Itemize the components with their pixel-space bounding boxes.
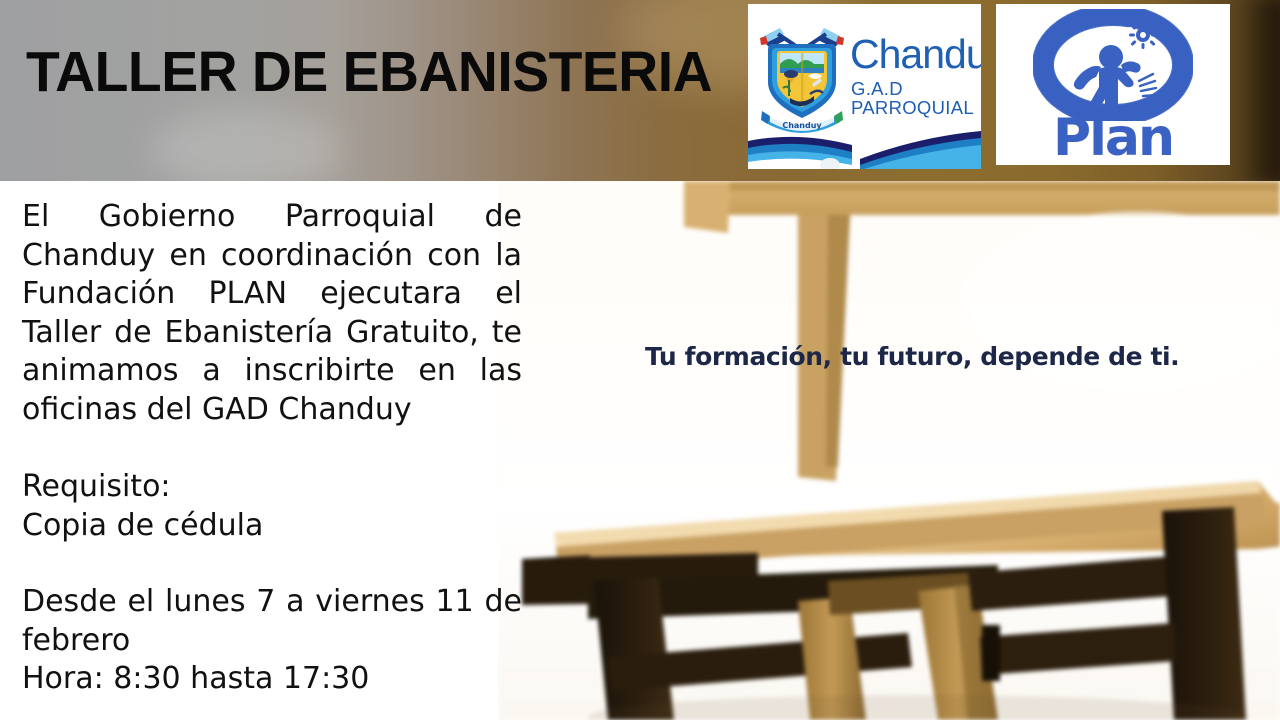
header-highlight-blur	[150, 110, 340, 181]
logo-plan: Plan	[996, 4, 1230, 165]
wooden-chair-photo	[498, 181, 1280, 720]
logo-chanduy: Chanduy Chanduy G.A.D PARROQUIAL	[748, 4, 981, 169]
header-dark-edge	[1240, 0, 1280, 181]
hours-text: Hora: 8:30 hasta 17:30	[22, 660, 522, 699]
requirement-value: Copia de cédula	[22, 507, 522, 546]
logo-chanduy-subtitle: G.A.D PARROQUIAL	[851, 80, 981, 117]
logo-chanduy-waves	[748, 115, 981, 169]
page-title: TALLER DE EBANISTERIA	[26, 44, 712, 101]
plan-child-sun-ring-icon	[1033, 9, 1193, 121]
logo-chanduy-name: Chanduy	[850, 34, 981, 75]
requirement-label: Requisito:	[22, 468, 522, 507]
spacer-2	[22, 545, 522, 583]
dates-text: Desde el lunes 7 a viernes 11 de febrero	[22, 583, 522, 660]
intro-paragraph: El Gobierno Parroquial de Chanduy en coo…	[22, 198, 522, 429]
poster-canvas: TALLER DE EBANISTERIA	[0, 0, 1280, 720]
logo-plan-name: Plan	[996, 112, 1230, 164]
tagline-text: Tu formación, tu futuro, depende de ti.	[645, 344, 1179, 369]
spacer-1	[22, 429, 522, 468]
header-band: TALLER DE EBANISTERIA	[0, 0, 1280, 181]
body-text-column: El Gobierno Parroquial de Chanduy en coo…	[22, 198, 522, 699]
